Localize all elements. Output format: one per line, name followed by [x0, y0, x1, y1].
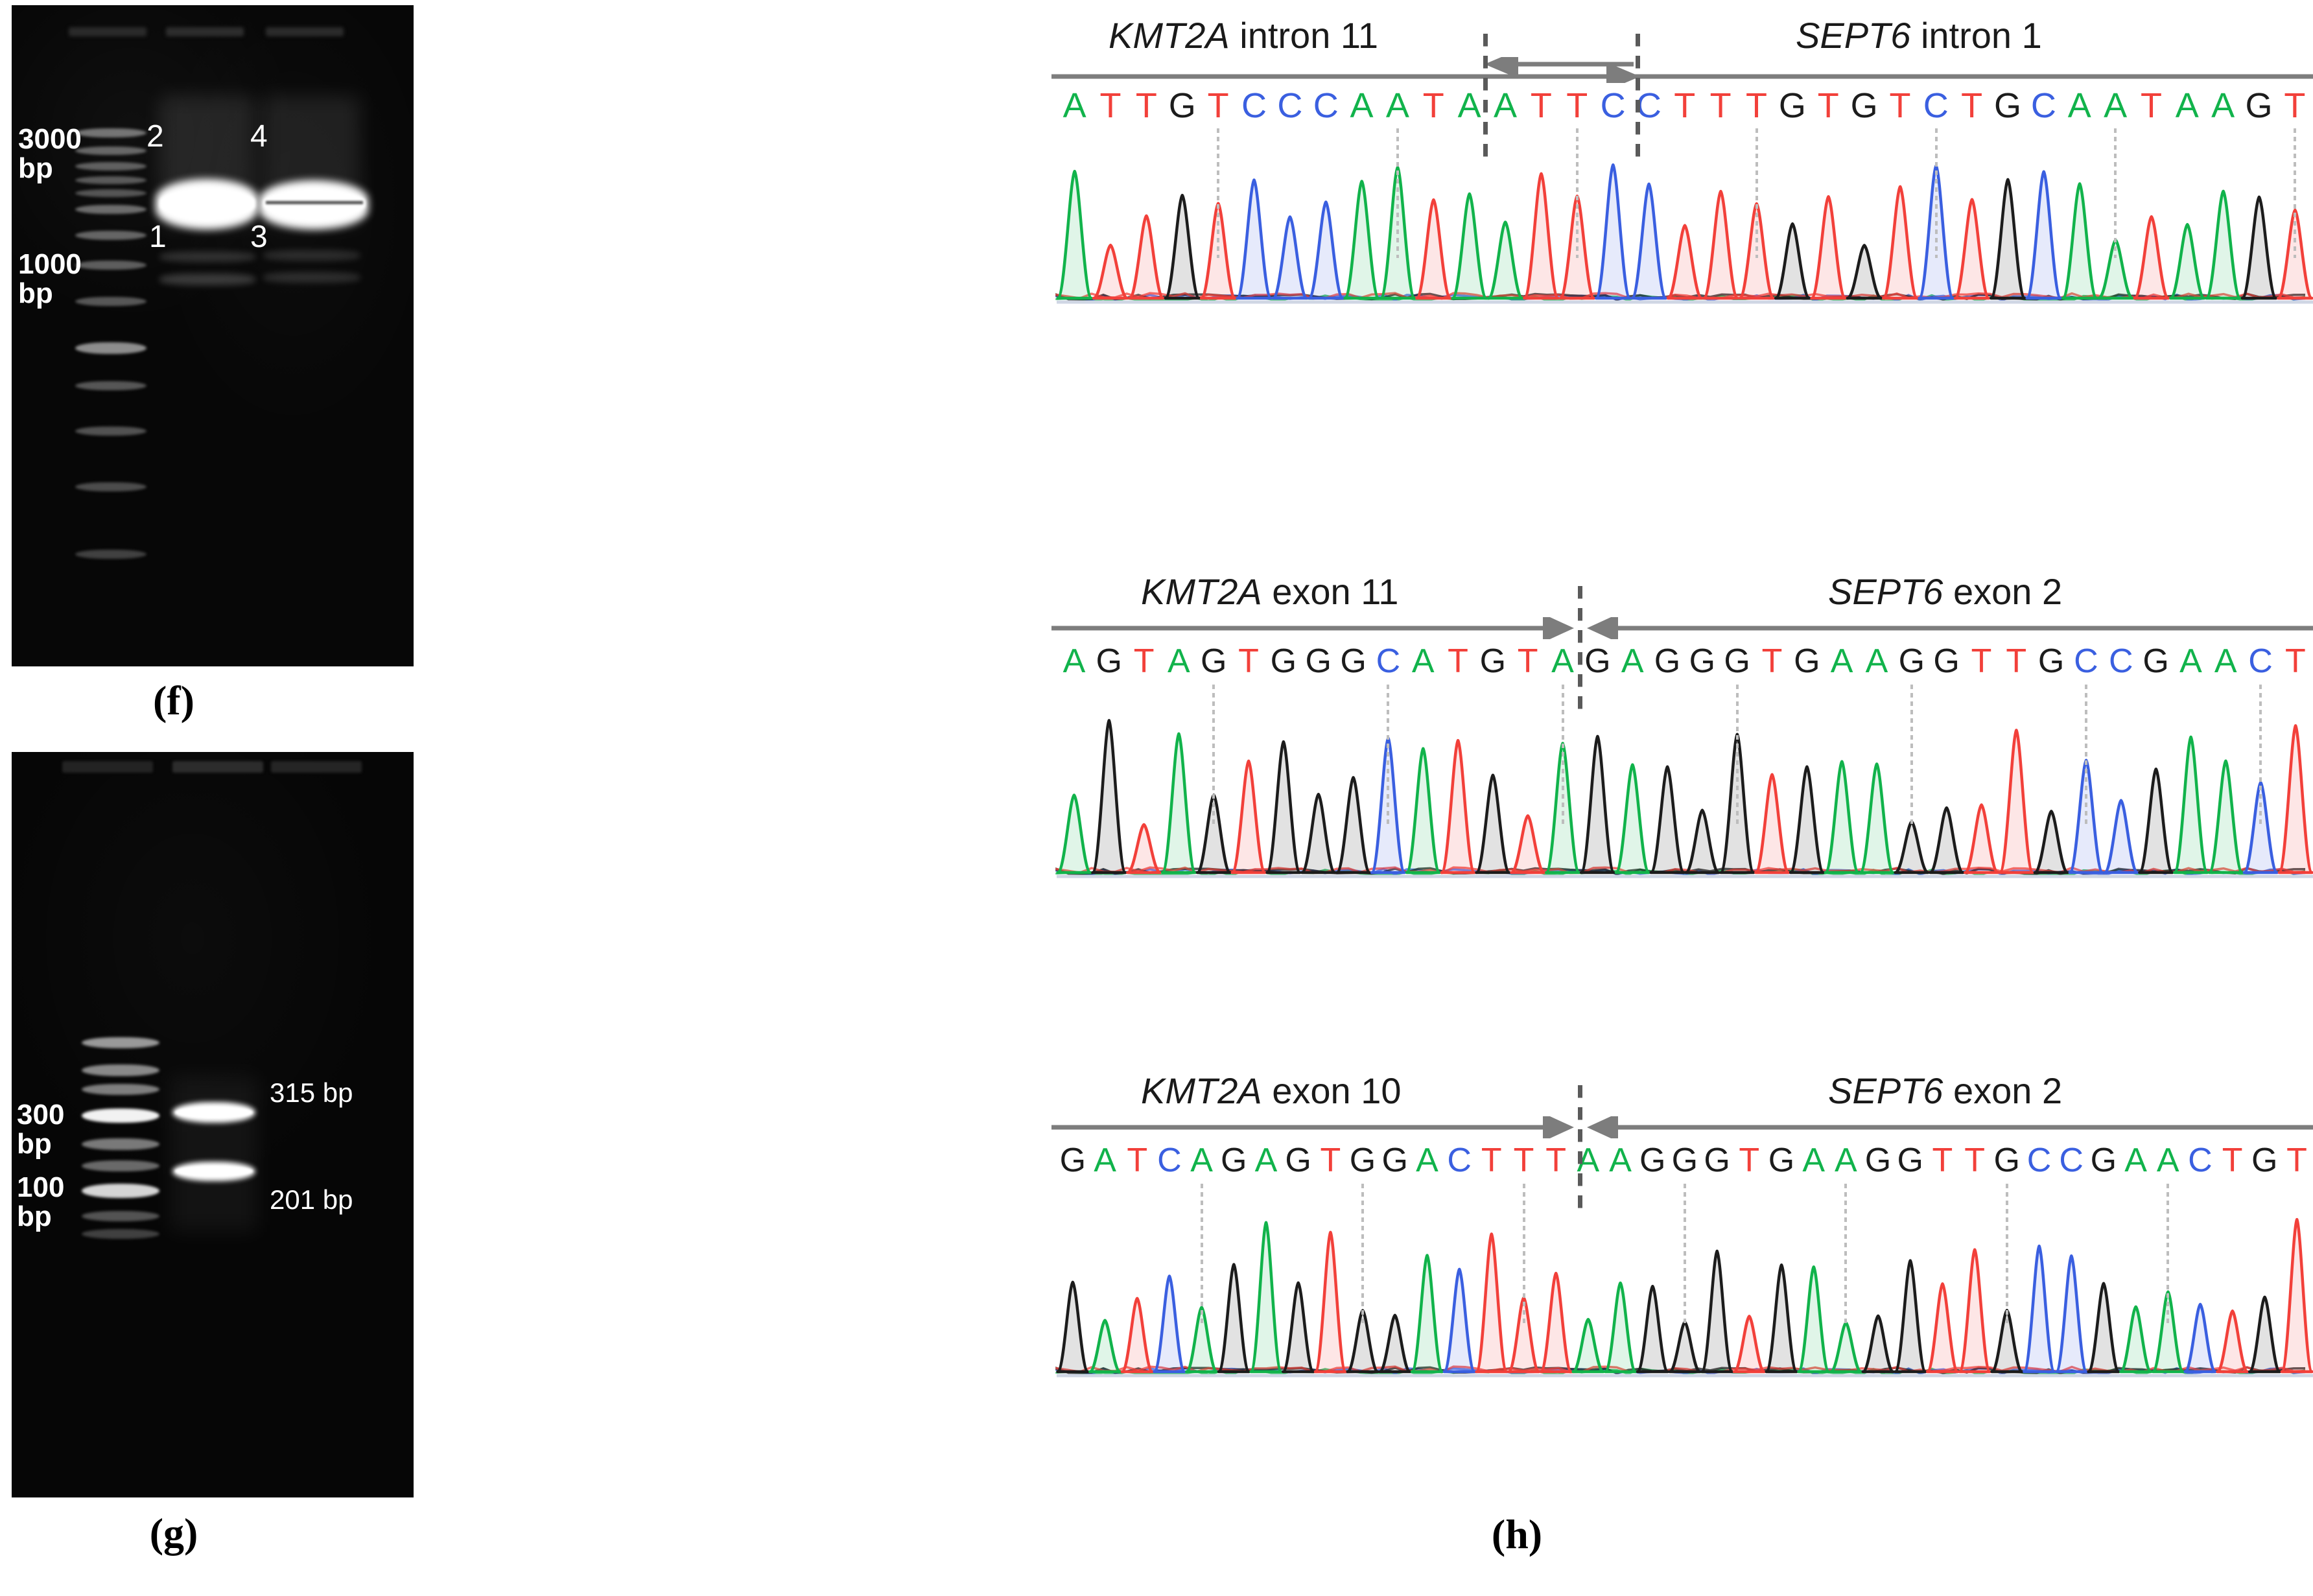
peak-t [1734, 1317, 1765, 1372]
base-letter-g: G [1789, 644, 1824, 678]
peak-a [1488, 222, 1522, 298]
chromatogram-panel-h: KMT2A intron 11 SEPT6 intron 1 ATTGTCCCA… [895, 0, 2313, 1596]
base-letter-g: G [1092, 644, 1127, 678]
base-tick-guide [1361, 1184, 1364, 1326]
gel-band-label-201bp: 201 bp [270, 1186, 353, 1214]
base-letter-g: G [1346, 1144, 1379, 1177]
segment-descriptor: intron 11 [1230, 15, 1378, 56]
base-letter-g: G [1057, 1144, 1089, 1177]
peak-t [1668, 226, 1702, 298]
base-letter-a: A [1186, 1144, 1218, 1177]
chrom-top-axis-arrows [895, 57, 2313, 83]
marker-unit: bp [17, 1201, 52, 1232]
gel-marker-label-3000: 3000 bp [18, 125, 82, 183]
gel-band-faint [159, 252, 255, 262]
chrom-middle-right-gene-label: SEPT6 exon 2 [1828, 570, 2062, 613]
gel-image-g [12, 752, 414, 1497]
base-tick-guide [2114, 128, 2117, 258]
base-letter-c: C [1153, 1144, 1186, 1177]
peak-a [2120, 1307, 2151, 1372]
base-letter-g: G [1475, 644, 1510, 678]
peak-g [1267, 742, 1300, 873]
base-letter-t: T [1999, 644, 2034, 678]
peak-g [1092, 720, 1125, 873]
segment-descriptor: intron 1 [1910, 15, 2041, 56]
base-letter-c: C [2184, 1144, 2216, 1177]
base-letter-t: T [1127, 644, 1162, 678]
gel-band-faint [159, 274, 255, 285]
gel-lane-number-4: 4 [250, 119, 268, 154]
marker-size-value: 300 [17, 1099, 64, 1131]
gel-band-faint [263, 250, 360, 261]
peak-g [2035, 812, 2068, 873]
base-letter-g: G [1650, 644, 1685, 678]
base-tick-guide [1684, 1184, 1686, 1326]
peak-g [1477, 775, 1510, 873]
base-letter-a: A [1824, 644, 1859, 678]
base-letter-a: A [1604, 1144, 1637, 1177]
chrom-top: KMT2A intron 11 SEPT6 intron 1 ATTGTCCCA… [895, 5, 2313, 511]
peak-a [1798, 1267, 1829, 1372]
segment-descriptor: exon 10 [1262, 1070, 1402, 1111]
peak-t [2000, 730, 2033, 873]
panel-letter-g: (g) [122, 1509, 226, 1557]
peak-g [2249, 1297, 2280, 1372]
peak-t [1129, 216, 1163, 298]
base-letter-a: A [1380, 88, 1415, 123]
base-letter-t: T [1927, 1144, 1959, 1177]
base-letter-g: G [1636, 1144, 1669, 1177]
marker-unit: bp [17, 1128, 52, 1160]
base-letter-c: C [1272, 88, 1308, 123]
chrom-bottom-axis-arrows [895, 1116, 2313, 1138]
base-letter-t: T [1733, 1144, 1765, 1177]
base-letter-g: G [1990, 88, 2025, 123]
base-letter-c: C [2026, 88, 2061, 123]
ladder-band [75, 261, 147, 270]
gel-marker-label-100: 100 bp [17, 1173, 64, 1232]
panel-letter-f: (f) [122, 677, 226, 725]
base-letter-a: A [2174, 644, 2209, 678]
peak-c [2024, 1246, 2054, 1372]
base-letter-a: A [2205, 88, 2241, 123]
peak-c [1273, 217, 1307, 299]
base-letter-g: G [1336, 644, 1371, 678]
peak-t [1812, 196, 1846, 298]
peak-a [1251, 1223, 1282, 1372]
peak-g [1896, 1261, 1926, 1372]
base-letter-c: C [2243, 644, 2278, 678]
peak-c [1155, 1276, 1185, 1372]
base-letter-c: C [2055, 1144, 2087, 1177]
gel-band-split-line [266, 201, 363, 204]
gel-panel-g: 300 bp 100 bp 315 bp 201 bp (g) [12, 752, 427, 1595]
base-letter-t: T [1510, 644, 1545, 678]
base-letter-g: G [1580, 644, 1615, 678]
ladder-band [82, 1211, 159, 1221]
peak-c [1632, 184, 1666, 298]
peak-g [1302, 794, 1335, 873]
peak-g [1686, 810, 1719, 873]
peak-a [2209, 761, 2242, 873]
chrom-bottom-trace [895, 1186, 2313, 1381]
base-tick-guide [1201, 1184, 1203, 1326]
peak-t [1525, 174, 1558, 298]
base-letter-t: T [1667, 88, 1702, 123]
chrom-middle-trace [895, 687, 2313, 882]
base-letter-g: G [1929, 644, 1964, 678]
marker-size-value: 3000 [18, 123, 82, 155]
base-letter-g: G [2139, 644, 2174, 678]
base-letter-g: G [1862, 1144, 1894, 1177]
ladder-band [82, 1084, 159, 1095]
peak-t [2217, 1311, 2248, 1372]
base-letter-t: T [1315, 1144, 1347, 1177]
peak-g [1896, 822, 1929, 873]
segment-descriptor: exon 2 [1943, 571, 2062, 612]
peak-g [2139, 769, 2172, 873]
ladder-band [82, 1138, 159, 1150]
ladder-band [82, 1229, 159, 1239]
base-letter-t: T [1739, 88, 1774, 123]
peak-g [1930, 808, 1963, 873]
base-letter-a: A [2152, 1144, 2184, 1177]
chromatogram-trace-svg [895, 132, 2313, 307]
gel-panel-f: 3000 bp 1000 bp 2 1 4 3 (f) [12, 5, 427, 744]
gel-band-faint [263, 272, 360, 283]
gel-well [271, 761, 362, 773]
base-letter-t: T [1440, 644, 1475, 678]
panel-letter-h: (h) [1452, 1510, 1582, 1558]
peak-c [1238, 180, 1271, 298]
ladder-band [75, 205, 147, 214]
base-letter-a: A [1411, 1144, 1444, 1177]
chrom-top-left-gene-label: KMT2A intron 11 [1109, 14, 1378, 56]
base-tick-guide [1844, 1184, 1847, 1326]
peak-g [1670, 1322, 1700, 1372]
ladder-band [75, 147, 147, 155]
gel-band-label-315bp: 315 bp [270, 1079, 353, 1107]
peak-a [1412, 1256, 1442, 1372]
ladder-band [75, 128, 147, 137]
peak-g [1166, 195, 1199, 298]
peak-g [1863, 1316, 1894, 1372]
base-letter-t: T [1231, 644, 1266, 678]
peak-a [1861, 764, 1894, 873]
peak-t [2135, 217, 2168, 298]
base-letter-t: T [1121, 1144, 1153, 1177]
peak-t [1960, 1250, 1990, 1372]
peak-t [1511, 816, 1544, 873]
peak-c [2027, 172, 2061, 298]
peak-g [1058, 1282, 1088, 1372]
gene-name-kmt2a: KMT2A [1109, 15, 1230, 56]
chrom-bottom-left-gene-label: KMT2A exon 10 [1141, 1070, 1402, 1112]
base-letter-a: A [1830, 1144, 1862, 1177]
peak-a [2174, 737, 2207, 873]
base-letter-c: C [2023, 1144, 2056, 1177]
peak-t [1442, 740, 1475, 873]
base-tick-guide [1755, 128, 1758, 258]
base-letter-g: G [1765, 1144, 1798, 1177]
ladder-band [75, 482, 147, 491]
base-letter-a: A [1859, 644, 1894, 678]
peak-a [2063, 183, 2096, 298]
chrom-middle-axis-arrows [895, 617, 2313, 639]
gene-name-kmt2a: KMT2A [1141, 1070, 1262, 1111]
base-letter-a: A [1572, 1144, 1604, 1177]
base-tick-guide [2006, 1184, 2008, 1326]
ladder-band [75, 342, 147, 354]
base-letter-g: G [2087, 1144, 2120, 1177]
peak-g [1702, 1251, 1732, 1372]
peak-a [1058, 171, 1092, 298]
base-letter-a: A [1451, 88, 1487, 123]
base-letter-g: G [1774, 88, 1810, 123]
peak-g [1581, 736, 1614, 873]
peak-t [1955, 200, 1989, 298]
base-letter-a: A [1798, 1144, 1830, 1177]
peak-t [1927, 1284, 1958, 1372]
base-letter-a: A [1615, 644, 1650, 678]
peak-g [1219, 1265, 1249, 1372]
base-letter-c: C [1236, 88, 1272, 123]
base-letter-g: G [2034, 644, 2069, 678]
base-letter-a: A [2097, 88, 2133, 123]
chrom-bottom: KMT2A exon 10 SEPT6 exon 2 GATCAGAGTGGAC… [895, 1063, 2313, 1530]
peak-a [1616, 765, 1649, 873]
chrom-top-right-gene-label: SEPT6 intron 1 [1796, 14, 2042, 56]
base-letter-a: A [1250, 1144, 1282, 1177]
base-letter-t: T [2281, 1144, 2313, 1177]
peak-t [1094, 245, 1127, 298]
peak-t [2282, 1219, 2312, 1372]
marker-unit: bp [18, 277, 53, 309]
base-letter-c: C [1443, 1144, 1475, 1177]
peak-a [1345, 182, 1379, 298]
base-letter-g: G [1669, 1144, 1701, 1177]
peak-t [1704, 191, 1737, 298]
chrom-middle-left-gene-label: KMT2A exon 11 [1141, 570, 1398, 613]
peak-g [1776, 224, 1809, 298]
base-letter-t: T [1523, 88, 1559, 123]
base-letter-a: A [1344, 88, 1380, 123]
base-letter-t: T [1958, 1144, 1991, 1177]
base-letter-t: T [2278, 644, 2313, 678]
ladder-band [75, 189, 147, 197]
base-tick-guide [2294, 128, 2296, 258]
ladder-band [75, 176, 147, 184]
gene-name-sept6: SEPT6 [1796, 15, 1910, 56]
base-tick-guide [1910, 685, 1913, 827]
peak-t [1965, 805, 1998, 873]
base-letter-g: G [2241, 88, 2277, 123]
peak-g [2089, 1284, 2119, 1372]
peak-a [1058, 795, 1091, 873]
chrom-top-base-row: ATTGTCCCAATAATTCCTTTGTGTCTGCAATAAGT [895, 88, 2313, 123]
chrom-bottom-base-row: GATCAGAGTGGACTTTAAGGGTGAAGGTTGCCGAACTGT [895, 1144, 2313, 1177]
peak-g [1767, 1265, 1797, 1372]
base-tick-guide [1562, 685, 1564, 827]
gel-well [266, 27, 344, 36]
base-letter-g: G [1894, 1144, 1927, 1177]
peak-a [1453, 194, 1486, 298]
base-letter-a: A [1057, 88, 1092, 123]
base-tick-guide [2166, 1184, 2169, 1326]
peak-a [1162, 734, 1195, 873]
ladder-band [82, 1064, 159, 1076]
base-letter-g: G [1991, 1144, 2023, 1177]
gel-marker-label-1000: 1000 bp [18, 250, 82, 309]
peak-a [1573, 1319, 1604, 1372]
ladder-band [82, 1037, 159, 1048]
peak-t [1232, 761, 1265, 873]
ladder-band [82, 1184, 159, 1198]
base-letter-g: G [2248, 1144, 2281, 1177]
gel-well [62, 761, 153, 773]
segment-descriptor: exon 2 [1943, 1070, 2062, 1111]
gene-name-sept6: SEPT6 [1828, 571, 1943, 612]
base-letter-t: T [1416, 88, 1451, 123]
base-tick-guide [1396, 128, 1399, 258]
ladder-band [75, 162, 147, 170]
chrom-top-trace [895, 132, 2313, 307]
base-letter-a: A [2061, 88, 2097, 123]
gel-lane-number-1: 1 [149, 219, 167, 255]
base-letter-t: T [1129, 88, 1164, 123]
base-letter-t: T [2277, 88, 2312, 123]
peak-a [2170, 224, 2204, 298]
base-letter-g: G [1846, 88, 1882, 123]
gel-ladder-lane-g [82, 1037, 159, 1297]
base-tick-guide [1523, 1184, 1525, 1326]
peak-c [1309, 202, 1343, 298]
base-letter-c: C [2069, 644, 2104, 678]
chrom-middle-base-row: AGTAGTGGGCATGTAGAGGGTGAAGGTTGCCGAACT [895, 644, 2313, 678]
marker-unit: bp [18, 152, 53, 184]
base-letter-t: T [1954, 88, 1990, 123]
peak-g [1638, 1286, 1668, 1372]
ladder-band [75, 297, 147, 306]
ladder-band [75, 427, 147, 436]
base-letter-g: G [1894, 644, 1929, 678]
base-letter-g: G [1685, 644, 1720, 678]
gel-lane-number-2: 2 [147, 119, 164, 154]
gel-ladder-lane-f [75, 122, 147, 602]
gel-marker-label-300: 300 bp [17, 1101, 64, 1159]
base-letter-t: T [1964, 644, 1999, 678]
base-letter-a: A [2120, 1144, 2152, 1177]
gel-lane-haze [170, 1076, 258, 1232]
base-letter-c: C [1918, 88, 1954, 123]
base-letter-a: A [1405, 644, 1440, 678]
peak-t [1127, 825, 1160, 873]
peak-c [2185, 1304, 2216, 1372]
base-letter-c: C [1370, 644, 1405, 678]
peak-t [2279, 725, 2312, 873]
base-letter-a: A [1545, 644, 1580, 678]
chrom-middle: KMT2A exon 11 SEPT6 exon 2 AGTAGTGGGCATG… [895, 564, 2313, 1031]
gel-lane-number-3: 3 [250, 219, 268, 255]
gel-band-core [159, 191, 255, 217]
peak-t [1755, 775, 1789, 873]
base-tick-guide [2085, 685, 2087, 827]
gel-well [69, 27, 147, 36]
base-letter-a: A [1089, 1144, 1121, 1177]
ladder-band [75, 231, 147, 240]
peak-a [1826, 762, 1859, 873]
base-letter-t: T [1811, 88, 1846, 123]
base-letter-g: G [1701, 1144, 1733, 1177]
peak-g [1991, 180, 2025, 298]
base-letter-t: T [1200, 88, 1236, 123]
gel-well [166, 27, 244, 36]
base-letter-t: T [2216, 1144, 2249, 1177]
gel-well [172, 761, 263, 773]
chromatogram-trace-svg [895, 687, 2313, 882]
base-letter-t: T [1508, 1144, 1540, 1177]
base-letter-t: T [1755, 644, 1790, 678]
base-tick-guide [1212, 685, 1215, 827]
marker-size-value: 100 [17, 1171, 64, 1203]
base-letter-t: T [1702, 88, 1738, 123]
base-tick-guide [1576, 128, 1579, 258]
peak-g [1791, 767, 1824, 873]
peak-a [1407, 749, 1440, 873]
peak-g [1380, 1315, 1410, 1372]
base-letter-g: G [1282, 1144, 1315, 1177]
peak-a [1090, 1320, 1120, 1372]
peak-t [1122, 1298, 1153, 1372]
base-letter-t: T [2133, 88, 2169, 123]
base-tick-guide [1736, 685, 1739, 827]
base-letter-g: G [1196, 644, 1231, 678]
ladder-band [82, 1109, 159, 1123]
peak-c [1444, 1269, 1475, 1372]
base-letter-g: G [1379, 1144, 1411, 1177]
peak-t [1315, 1232, 1346, 1372]
peak-g [1337, 777, 1370, 873]
peak-t [1477, 1234, 1507, 1372]
base-letter-c: C [2104, 644, 2139, 678]
marker-size-value: 1000 [18, 248, 82, 280]
gene-name-sept6: SEPT6 [1828, 1070, 1943, 1111]
base-letter-g: G [1217, 1144, 1250, 1177]
peak-a [2207, 191, 2240, 298]
peak-a [1605, 1283, 1636, 1372]
chromatogram-trace-svg [895, 1186, 2313, 1381]
base-letter-t: T [1882, 88, 1918, 123]
peak-g [1651, 767, 1684, 873]
peak-g [1848, 245, 1881, 298]
base-tick-guide [1217, 128, 1219, 258]
peak-t [1883, 187, 1917, 298]
base-letter-t: T [1092, 88, 1128, 123]
base-letter-g: G [1164, 88, 1200, 123]
base-letter-g: G [1301, 644, 1336, 678]
chrom-bottom-right-gene-label: SEPT6 exon 2 [1828, 1070, 2062, 1112]
peak-t [1541, 1273, 1571, 1372]
base-letter-c: C [1595, 88, 1630, 123]
base-letter-a: A [1487, 88, 1523, 123]
base-letter-g: G [1266, 644, 1301, 678]
base-letter-t: T [1475, 1144, 1508, 1177]
base-tick-guide [1935, 128, 1938, 258]
base-letter-g: G [1720, 644, 1755, 678]
base-letter-a: A [2208, 644, 2243, 678]
peak-g [2242, 197, 2276, 298]
ladder-band [82, 1160, 159, 1171]
